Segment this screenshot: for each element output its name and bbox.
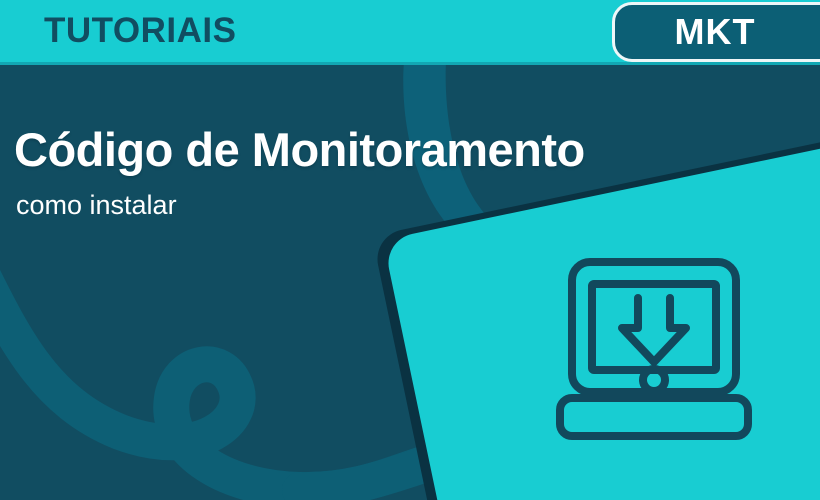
laptop-download-icon — [556, 256, 752, 442]
download-arrow-icon — [622, 298, 686, 362]
page-title: Código de Monitoramento — [14, 122, 585, 177]
top-bar-underline — [0, 62, 820, 65]
mkt-badge: MKT — [612, 2, 820, 62]
category-label: TUTORIAIS — [44, 11, 236, 51]
page-subtitle: como instalar — [16, 190, 177, 221]
laptop-camera-dot — [643, 369, 665, 391]
tutorial-banner: TUTORIAIS MKT Código de Monitoramento co… — [0, 0, 820, 500]
laptop-base-outline — [560, 398, 748, 436]
mkt-badge-label: MKT — [615, 5, 815, 59]
